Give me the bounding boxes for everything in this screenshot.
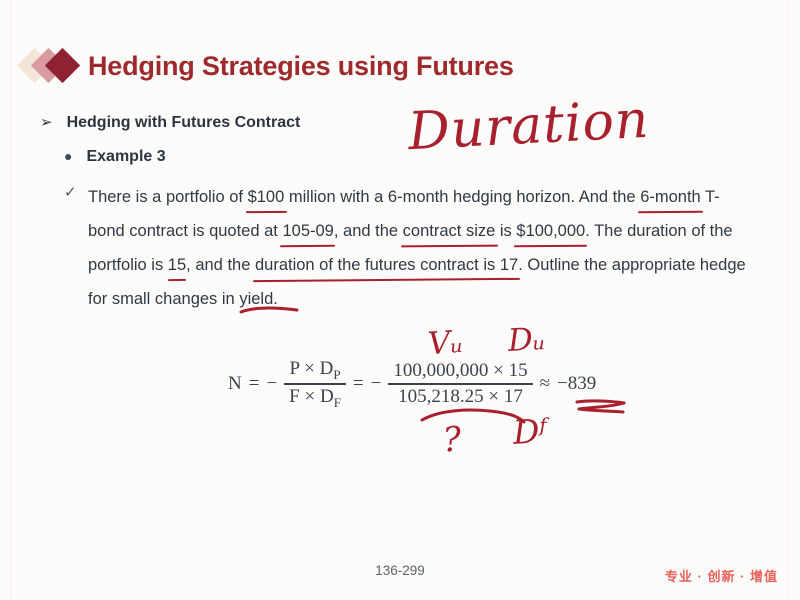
formula-equals-1: = <box>249 373 260 395</box>
numerator-subscript: P <box>333 367 340 382</box>
formula-approx-sign: ≈ <box>540 373 550 395</box>
para-text-5: is <box>495 222 516 240</box>
underlined-portfolio-duration: 15 <box>168 248 186 282</box>
underlined-portfolio-value: $100 <box>248 180 285 214</box>
fraction-numerator-numeric: 100,000,000 × 15 <box>388 360 532 383</box>
formula-fraction-numeric: 100,000,000 × 15 105,218.25 × 17 <box>388 360 532 408</box>
brand-footer-text: 专业 · 创新 · 增值 <box>665 566 778 585</box>
arrow-bullet-icon: ➢ <box>40 115 53 130</box>
example-paragraph: There is a portfolio of $100 million wit… <box>88 180 750 316</box>
underlined-six-month: 6-month <box>640 180 701 214</box>
handwritten-denominator-stroke <box>420 408 530 428</box>
para-text-4: , and the <box>334 222 403 240</box>
underlined-contract-amount: $100,000 <box>516 214 585 248</box>
bullet-level2: ● Example 3 <box>64 148 166 166</box>
handwritten-du-annotation: Dᵤ <box>507 321 546 359</box>
formula-equals-2: = <box>353 373 364 395</box>
para-text-7: , and the <box>186 256 255 274</box>
denominator-text: F × D <box>289 386 334 407</box>
check-bullet-icon: ✓ <box>64 183 77 201</box>
handwritten-vu-annotation: Vᵤ <box>427 324 464 362</box>
formula-minus-1: − <box>266 373 277 395</box>
bullet-level1: ➢ Hedging with Futures Contract <box>40 114 300 132</box>
disc-bullet-icon: ● <box>64 149 72 163</box>
handwritten-df-annotation: Dᶠ <box>512 411 548 452</box>
slide-canvas: Hedging Strategies using Futures ➢ Hedgi… <box>0 0 800 600</box>
diamond-logo-icon <box>22 48 88 84</box>
handwritten-duration-annotation: Duration <box>407 90 651 163</box>
underlined-quote-price: 105-09 <box>282 214 333 248</box>
fraction-numerator-symbolic: P × DP <box>285 358 346 383</box>
underlined-contract-size: contract size <box>403 214 496 248</box>
hedge-ratio-formula: N = − P × DP F × DF = − 100,000,000 × 15… <box>228 358 596 410</box>
example-paragraph-block: ✓ There is a portfolio of $100 million w… <box>88 180 750 316</box>
left-divider <box>10 0 11 600</box>
page-title: Hedging Strategies using Futures <box>88 51 514 82</box>
denominator-subscript: F <box>334 394 341 409</box>
underlined-futures-duration: duration of the futures contract is 17 <box>255 248 518 282</box>
formula-lhs: N <box>228 373 242 395</box>
bullet-level1-label: Hedging with Futures Contract <box>67 114 301 132</box>
para-text-1: There is a portfolio of <box>88 188 248 206</box>
bullet-level2-label: Example 3 <box>86 148 165 166</box>
formula-minus-2: − <box>371 373 382 395</box>
numerator-text: P × D <box>290 358 334 379</box>
formula-fraction-symbolic: P × DP F × DF <box>284 358 346 410</box>
fraction-denominator-symbolic: F × DF <box>284 385 346 410</box>
para-text-2: million with a 6-month hedging horizon. … <box>284 188 640 206</box>
fraction-denominator-numeric: 105,218.25 × 17 <box>393 385 528 408</box>
right-divider <box>787 0 788 600</box>
formula-result: −839 <box>557 373 596 395</box>
handwritten-question-mark-annotation: ? <box>442 419 463 460</box>
slide-title-row: Hedging Strategies using Futures <box>22 44 514 88</box>
